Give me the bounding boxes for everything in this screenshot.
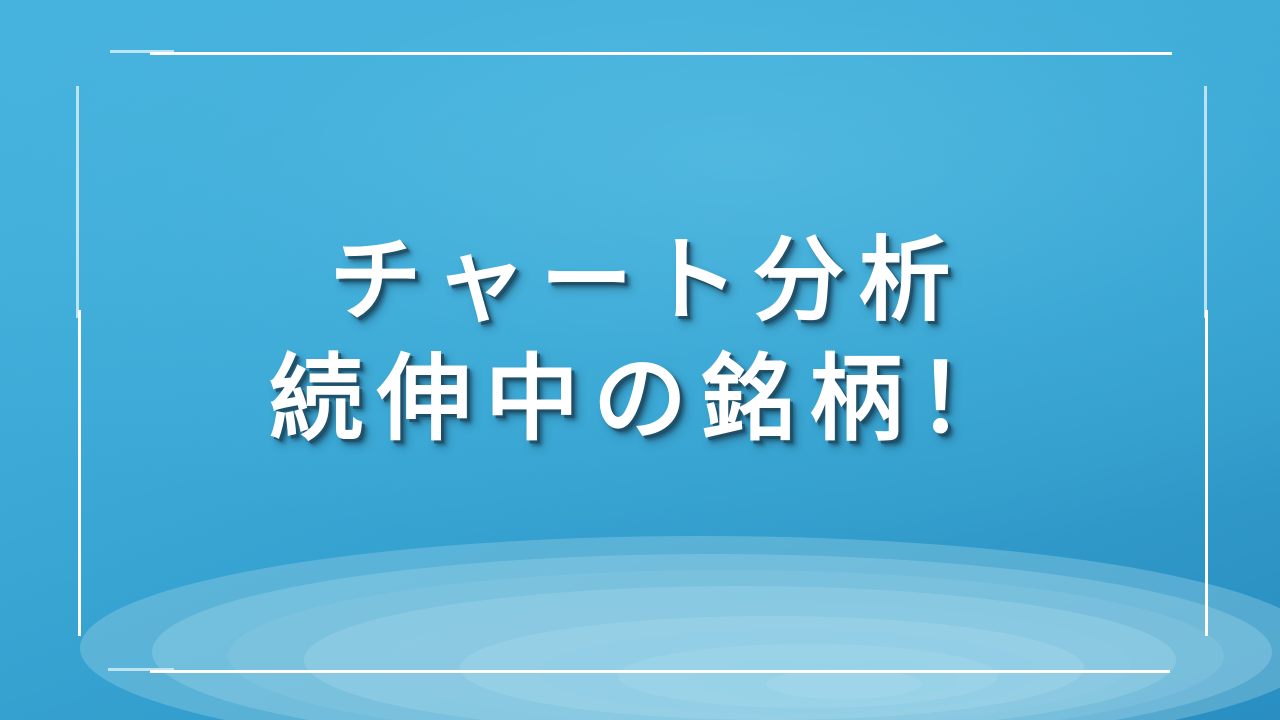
title-line-1: チャート分析 bbox=[0, 222, 1280, 340]
bottom-rule bbox=[150, 670, 1170, 673]
title-block: チャート分析 続伸中の銘柄！ bbox=[0, 222, 1280, 458]
ripple-ellipse-9 bbox=[766, 669, 922, 699]
title-line-2: 続伸中の銘柄！ bbox=[0, 340, 1280, 458]
top-rule bbox=[150, 52, 1172, 55]
slide-canvas: チャート分析 続伸中の銘柄！ bbox=[0, 0, 1280, 720]
